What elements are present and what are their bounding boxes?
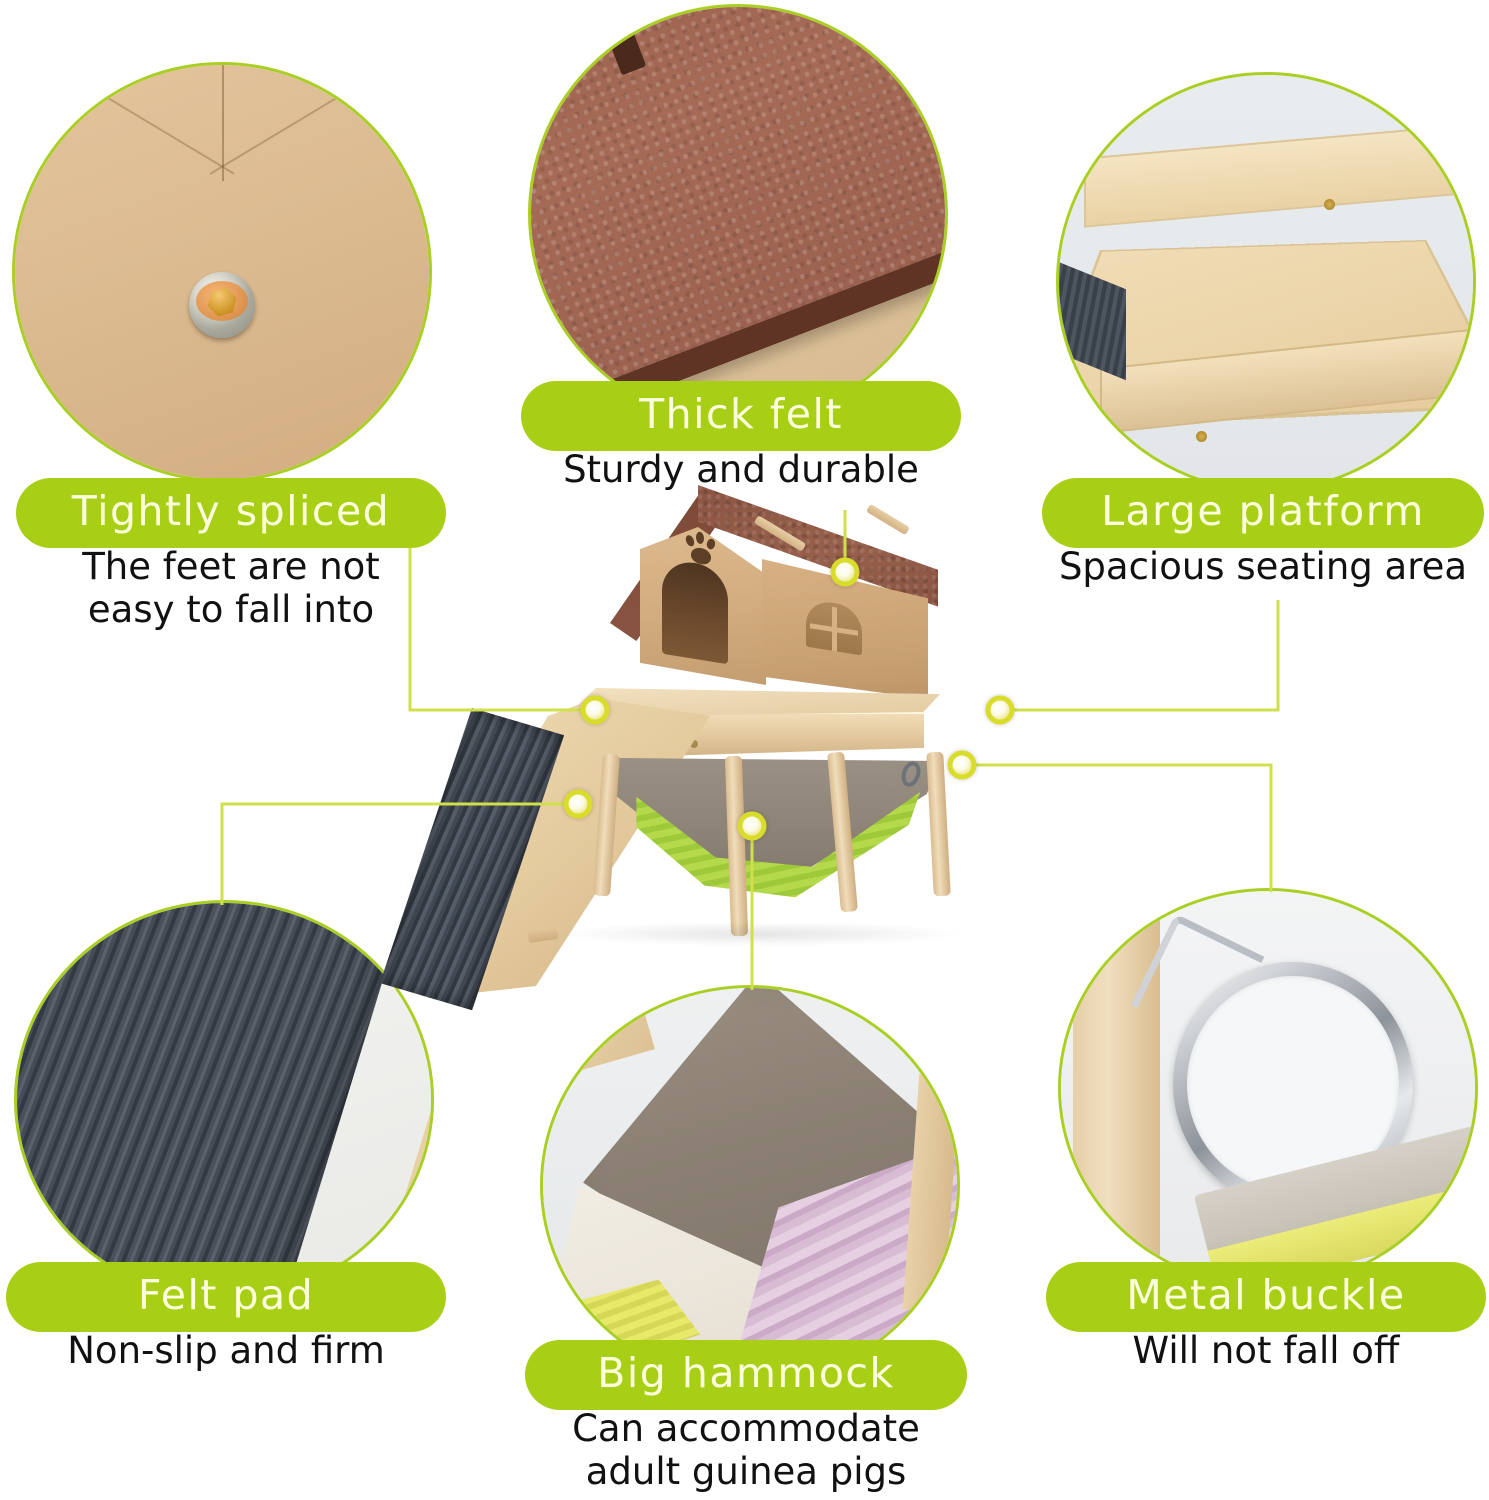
tray-back-wall (1084, 125, 1465, 229)
inset-photo-felt-pad (14, 900, 434, 1300)
roof-trim-stick (866, 504, 910, 535)
hammock-closeup-photo (543, 988, 957, 1382)
feature-title-tightly-spliced: Tightly spliced (16, 478, 446, 548)
feature-desc-big-hammock: Can accommodate adult guinea pigs (525, 1408, 967, 1494)
pet-house (610, 485, 920, 705)
feature-title-metal-buckle: Metal buckle (1046, 1262, 1486, 1332)
feature-desc-metal-buckle: Will not fall off (1046, 1330, 1486, 1373)
tray-screw-icon (1196, 431, 1207, 442)
paw-print-icon (684, 528, 718, 569)
felt-pad-closeup-photo (17, 903, 431, 1297)
brown-felt-slab (528, 4, 948, 424)
wood-seam-left (71, 75, 235, 175)
feature-desc-large-platform: Spacious seating area (1042, 546, 1484, 589)
product-ground-shadow (560, 922, 960, 946)
wood-corner-photo (15, 65, 429, 479)
feature-title-large-platform: Large platform (1042, 478, 1484, 548)
callout-dot-metal-buckle[interactable] (948, 751, 977, 780)
wood-seam-right (209, 75, 373, 175)
infographic-canvas: Tightly spliced The feet are not easy to… (0, 0, 1489, 1500)
callout-dot-thick-felt[interactable] (831, 558, 860, 587)
tray-screw-icon (1324, 199, 1335, 210)
pad-ribbed-carpet (14, 900, 406, 1300)
screw-icon (189, 272, 255, 338)
inset-photo-large-platform (1056, 72, 1476, 492)
feature-desc-tightly-spliced: The feet are not easy to fall into (16, 546, 446, 632)
feature-desc-thick-felt: Sturdy and durable (521, 449, 961, 492)
feature-title-thick-felt: Thick felt (521, 381, 961, 451)
callout-dot-felt-pad[interactable] (564, 790, 593, 819)
platform-closeup-photo (1059, 75, 1473, 489)
hanging-hammock (610, 758, 940, 908)
felt-closeup-photo (531, 7, 945, 421)
inset-photo-big-hammock (540, 985, 960, 1385)
buckle-closeup-photo (1061, 891, 1475, 1285)
callout-dot-tightly-spliced[interactable] (581, 696, 610, 725)
feature-desc-felt-pad: Non-slip and firm (6, 1330, 446, 1373)
callout-dot-big-hammock[interactable] (738, 812, 767, 841)
feature-title-felt-pad: Felt pad (6, 1262, 446, 1332)
inset-photo-tightly-spliced (12, 62, 432, 482)
callout-dot-large-platform[interactable] (986, 696, 1015, 725)
inset-photo-metal-buckle (1058, 888, 1478, 1288)
inset-photo-thick-felt (528, 4, 948, 424)
feature-title-big-hammock: Big hammock (525, 1340, 967, 1410)
product-illustration (410, 470, 1090, 1030)
